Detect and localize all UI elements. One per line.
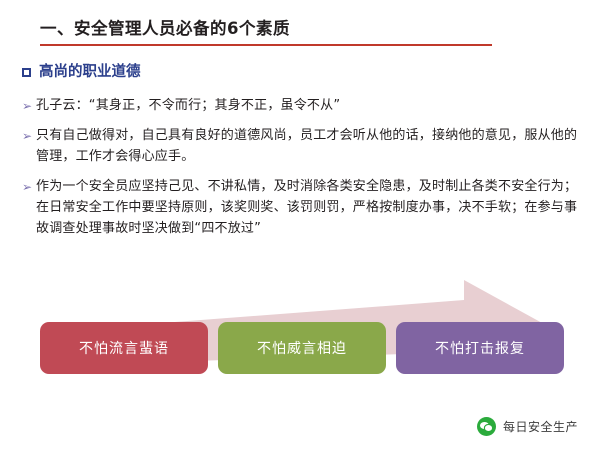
list-item-text: 只有自己做得对，自己具有良好的道德风尚，员工才会听从他的话，接纳他的意见，服从他… — [36, 125, 578, 167]
box-label: 不怕流言蜚语 — [79, 338, 169, 358]
list-item-text: 作为一个安全员应坚持己见、不讲私情，及时消除各类安全隐患，及时制止各类不安全行为… — [36, 176, 578, 239]
list-item: ➢ 孔子云：“其身正，不令而行；其身不正，虽令不从” — [22, 95, 578, 116]
section-subtitle: 高尚的职业道德 — [39, 64, 141, 81]
arrow-bullet-icon: ➢ — [22, 178, 36, 197]
box-label: 不怕打击报复 — [435, 338, 525, 358]
box-row: 不怕流言蜚语 不怕威言相迫 不怕打击报复 — [40, 322, 564, 374]
box-item-1: 不怕流言蜚语 — [40, 322, 208, 374]
footer-watermark: 每日安全生产 — [477, 417, 578, 436]
square-bullet-icon — [22, 68, 31, 77]
footer-label: 每日安全生产 — [503, 418, 578, 435]
box-label: 不怕威言相迫 — [257, 338, 347, 358]
page-title: 一、安全管理人员必备的6个素质 — [40, 18, 492, 39]
list-item: ➢ 作为一个安全员应坚持己见、不讲私情，及时消除各类安全隐患，及时制止各类不安全… — [22, 176, 578, 239]
subtitle-row: 高尚的职业道德 — [22, 64, 141, 81]
list-item: ➢ 只有自己做得对，自己具有良好的道德风尚，员工才会听从他的话，接纳他的意见，服… — [22, 125, 578, 167]
title-divider — [40, 44, 492, 46]
list-item-text: 孔子云：“其身正，不令而行；其身不正，虽令不从” — [36, 95, 340, 116]
arrow-bullet-icon: ➢ — [22, 127, 36, 146]
wechat-icon — [477, 417, 496, 436]
slide-canvas: 一、安全管理人员必备的6个素质 高尚的职业道德 ➢ 孔子云：“其身正，不令而行；… — [0, 0, 600, 450]
arrow-bullet-icon: ➢ — [22, 97, 36, 116]
box-item-3: 不怕打击报复 — [396, 322, 564, 374]
bullet-list: ➢ 孔子云：“其身正，不令而行；其身不正，虽令不从” ➢ 只有自己做得对，自己具… — [22, 95, 578, 248]
title-block: 一、安全管理人员必备的6个素质 — [40, 18, 492, 46]
box-item-2: 不怕威言相迫 — [218, 322, 386, 374]
